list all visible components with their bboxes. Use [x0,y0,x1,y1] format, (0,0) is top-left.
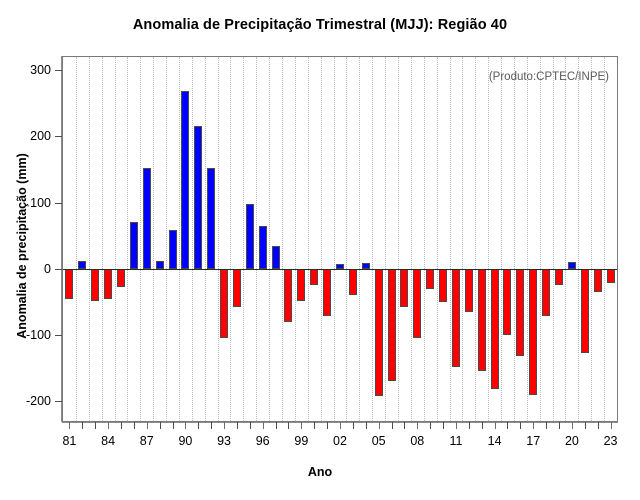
x-axis-label: Ano [0,465,640,479]
y-axis-label: Anomalia de precipitação (mm) [15,131,29,361]
x-tick-mark [121,422,122,429]
gridline-vertical [591,57,592,421]
x-tick-mark [546,422,547,429]
x-axis: 818487909396990205081114172023 [62,422,618,452]
gridline-vertical [462,57,463,421]
gridline-vertical [385,57,386,421]
x-tick-mark [404,422,405,429]
x-tick-mark [224,422,225,429]
gridline-vertical [359,57,360,421]
x-tick-mark [611,422,612,429]
x-tick-mark [520,422,521,429]
bar-2009 [426,269,434,289]
y-tick-label: 200 [30,129,51,143]
bar-1995 [246,204,254,269]
x-tick-label: 08 [410,434,424,448]
gridline-vertical [578,57,579,421]
gridline-vertical [179,57,180,421]
bar-2010 [439,269,447,302]
x-tick-label: 02 [333,434,347,448]
bar-1984 [104,269,112,299]
bar-1996 [259,226,267,269]
bar-2005 [375,269,383,396]
x-tick-mark [598,422,599,429]
x-tick-label: 99 [294,434,308,448]
x-tick-mark [507,422,508,429]
y-axis: 3002001000-100-200 [0,56,62,422]
y-tick-mark [55,203,62,204]
bar-2023 [607,269,615,284]
y-tick-mark [55,401,62,402]
gridline-vertical [127,57,128,421]
y-tick-mark [55,335,62,336]
gridline-vertical [76,57,77,421]
bar-1993 [220,269,228,338]
bar-1981 [65,269,73,299]
y-tick-mark [55,269,62,270]
bar-2022 [594,269,602,292]
gridline-vertical [475,57,476,421]
x-tick-mark [572,422,573,429]
gridline-vertical [115,57,116,421]
bar-1992 [207,168,215,269]
bar-1987 [143,168,151,269]
y-tick-mark [55,136,62,137]
gridline-vertical [372,57,373,421]
x-tick-mark [456,422,457,429]
gridline-vertical [140,57,141,421]
bar-1990 [181,91,189,268]
gridline-vertical [102,57,103,421]
gridline-vertical [553,57,554,421]
x-tick-mark [147,422,148,429]
x-tick-label: 87 [140,434,154,448]
bar-2017 [529,269,537,395]
y-tick-label: -200 [26,394,51,408]
bar-2011 [452,269,460,367]
zero-baseline [63,269,617,270]
x-tick-mark [82,422,83,429]
gridline-vertical [153,57,154,421]
x-tick-mark [173,422,174,429]
gridline-vertical [192,57,193,421]
gridline-vertical [617,57,618,421]
bar-1988 [156,261,164,269]
x-tick-label: 20 [565,434,579,448]
x-tick-mark [392,422,393,429]
credit-annotation: (Produto:CPTEC/INPE) [489,71,609,83]
gridline-vertical [450,57,451,421]
x-tick-mark [559,422,560,429]
x-tick-mark [340,422,341,429]
bar-2016 [516,269,524,356]
gridline-vertical [308,57,309,421]
gridline-vertical [346,57,347,421]
page-title: Anomalia de Precipitação Trimestral (MJJ… [0,17,640,33]
x-tick-label: 81 [62,434,76,448]
gridline-vertical [411,57,412,421]
bar-1983 [91,269,99,301]
x-tick-mark [288,422,289,429]
gridline-vertical [256,57,257,421]
gridline-vertical [89,57,90,421]
x-tick-mark [366,422,367,429]
x-tick-mark [250,422,251,429]
plot-area: (Produto:CPTEC/INPE) [62,56,618,422]
x-tick-mark [160,422,161,429]
x-tick-label: 93 [217,434,231,448]
y-tick-mark [55,70,62,71]
bar-2012 [465,269,473,312]
gridline-vertical [527,57,528,421]
bar-1985 [117,269,125,288]
gridline-vertical [334,57,335,421]
chart-figure: Anomalia de Precipitação Trimestral (MJJ… [0,0,640,500]
x-tick-mark [495,422,496,429]
x-tick-mark [95,422,96,429]
x-tick-mark [327,422,328,429]
gridline-vertical [501,57,502,421]
y-tick-label: -100 [26,328,51,342]
x-tick-mark [585,422,586,429]
gridline-vertical [295,57,296,421]
bar-1991 [194,126,202,268]
x-tick-mark [185,422,186,429]
x-tick-label: 11 [449,434,462,448]
bar-1994 [233,269,241,307]
x-tick-mark [379,422,380,429]
bar-2019 [555,269,563,286]
x-tick-mark [263,422,264,429]
gridline-vertical [218,57,219,421]
bar-2006 [388,269,396,382]
y-tick-label: 0 [44,262,51,276]
x-tick-label: 90 [178,434,192,448]
x-tick-label: 96 [256,434,270,448]
gridline-vertical [282,57,283,421]
x-tick-mark [211,422,212,429]
x-tick-mark [134,422,135,429]
bar-2001 [323,269,331,317]
bar-2007 [400,269,408,307]
x-tick-label: 05 [372,434,386,448]
x-tick-mark [237,422,238,429]
x-tick-mark [430,422,431,429]
bar-1998 [284,269,292,322]
x-tick-mark [198,422,199,429]
gridline-vertical [488,57,489,421]
gridline-vertical [243,57,244,421]
x-tick-mark [69,422,70,429]
bar-2013 [478,269,486,372]
bar-2000 [310,269,318,286]
bar-1999 [297,269,305,301]
gridline-vertical [205,57,206,421]
x-tick-mark [417,422,418,429]
gridline-vertical [437,57,438,421]
gridline-vertical [398,57,399,421]
gridline-vertical [540,57,541,421]
bar-2018 [542,269,550,317]
x-tick-mark [108,422,109,429]
gridline-vertical [604,57,605,421]
bar-2021 [581,269,589,354]
y-tick-label: 300 [30,63,51,77]
bar-1982 [78,261,86,269]
bar-1986 [130,222,138,268]
gridline-vertical [565,57,566,421]
x-tick-label: 23 [604,434,618,448]
gridline-vertical [230,57,231,421]
x-tick-mark [301,422,302,429]
bar-2003 [349,269,357,295]
x-tick-mark [314,422,315,429]
gridline-vertical [166,57,167,421]
bar-2008 [413,269,421,338]
x-tick-label: 84 [101,434,115,448]
y-tick-label: 100 [30,196,51,210]
x-tick-mark [443,422,444,429]
x-tick-mark [469,422,470,429]
x-tick-mark [533,422,534,429]
gridline-vertical [321,57,322,421]
bar-1989 [169,230,177,268]
bar-2020 [568,262,576,269]
x-tick-mark [482,422,483,429]
bar-2015 [503,269,511,335]
bar-1997 [272,246,280,269]
x-tick-label: 17 [526,434,540,448]
gridline-vertical [424,57,425,421]
gridline-vertical [514,57,515,421]
x-tick-mark [276,422,277,429]
gridline-vertical [269,57,270,421]
bar-2014 [491,269,499,389]
x-tick-mark [353,422,354,429]
x-tick-label: 14 [488,434,502,448]
